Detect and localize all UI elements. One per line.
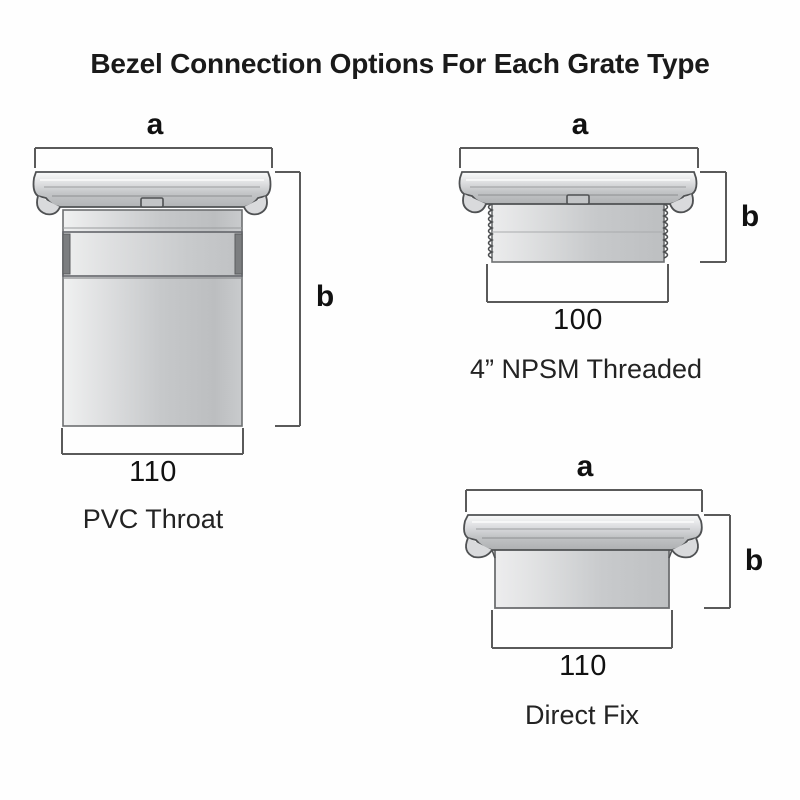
dimension-bracket-a — [466, 490, 702, 512]
pvc-socket-body — [63, 210, 242, 426]
dimension-bracket-110 — [62, 428, 243, 454]
dimension-label-b: b — [305, 282, 345, 312]
dimension-label-a: a — [440, 452, 730, 482]
dimension-label-100: 100 — [487, 306, 669, 335]
dimension-bracket-b — [700, 172, 726, 262]
dimension-bracket-b — [275, 172, 300, 426]
dimension-label-a: a — [430, 110, 730, 140]
dimension-label-b: b — [734, 546, 774, 576]
bezel-flange — [34, 172, 271, 214]
dimension-label-a: a — [0, 110, 310, 140]
direct-fix-socket-body — [495, 548, 669, 608]
npsm-socket-body — [492, 202, 664, 262]
pvc-throat-drawing — [0, 110, 360, 560]
dimension-bracket-100 — [487, 264, 668, 302]
dimension-bracket-a — [460, 148, 698, 168]
figure-direct-fix: a b 110 Direct Fix — [440, 460, 780, 760]
figure-caption-pvc-throat: PVC Throat — [32, 506, 274, 533]
bezel-center-notch — [567, 195, 589, 204]
page-title: Bezel Connection Options For Each Grate … — [0, 48, 800, 80]
diagram-canvas: Bezel Connection Options For Each Grate … — [0, 0, 800, 800]
dimension-label-110: 110 — [492, 652, 674, 681]
dimension-label-110: 110 — [62, 458, 244, 487]
dimension-bracket-b — [704, 515, 730, 608]
dimension-bracket-110 — [492, 610, 672, 648]
figure-pvc-throat: a b 110 PVC Throat — [0, 110, 360, 560]
dimension-bracket-a — [35, 148, 272, 168]
figure-caption-npsm-threaded: 4” NPSM Threaded — [438, 356, 734, 383]
figure-caption-direct-fix: Direct Fix — [482, 702, 682, 729]
bezel-center-notch — [141, 198, 163, 207]
dimension-label-b: b — [730, 202, 770, 232]
figure-npsm-threaded: a b 100 4” NPSM Threaded — [430, 110, 780, 400]
